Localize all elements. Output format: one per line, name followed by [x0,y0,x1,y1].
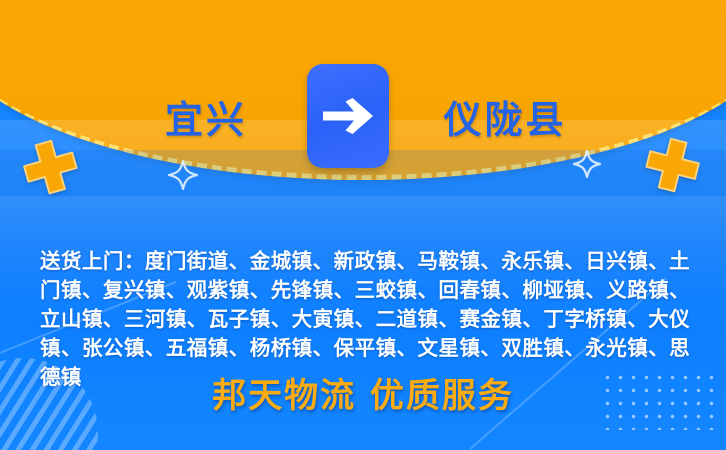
arrow-right-icon [321,96,375,136]
sparkle-icon [573,150,601,183]
logistics-banner: 宜兴 仪陇县 送货上门：度门街道、金 [0,0,726,450]
sparkle-icon [168,160,198,195]
company-slogan: 邦天物流 优质服务 [0,368,726,417]
route-row: 宜兴 仪陇县 [0,62,726,170]
route-arrow-button[interactable] [307,64,389,168]
origin-city-label: 宜兴 [131,89,281,144]
destination-city-label: 仪陇县 [415,89,595,144]
